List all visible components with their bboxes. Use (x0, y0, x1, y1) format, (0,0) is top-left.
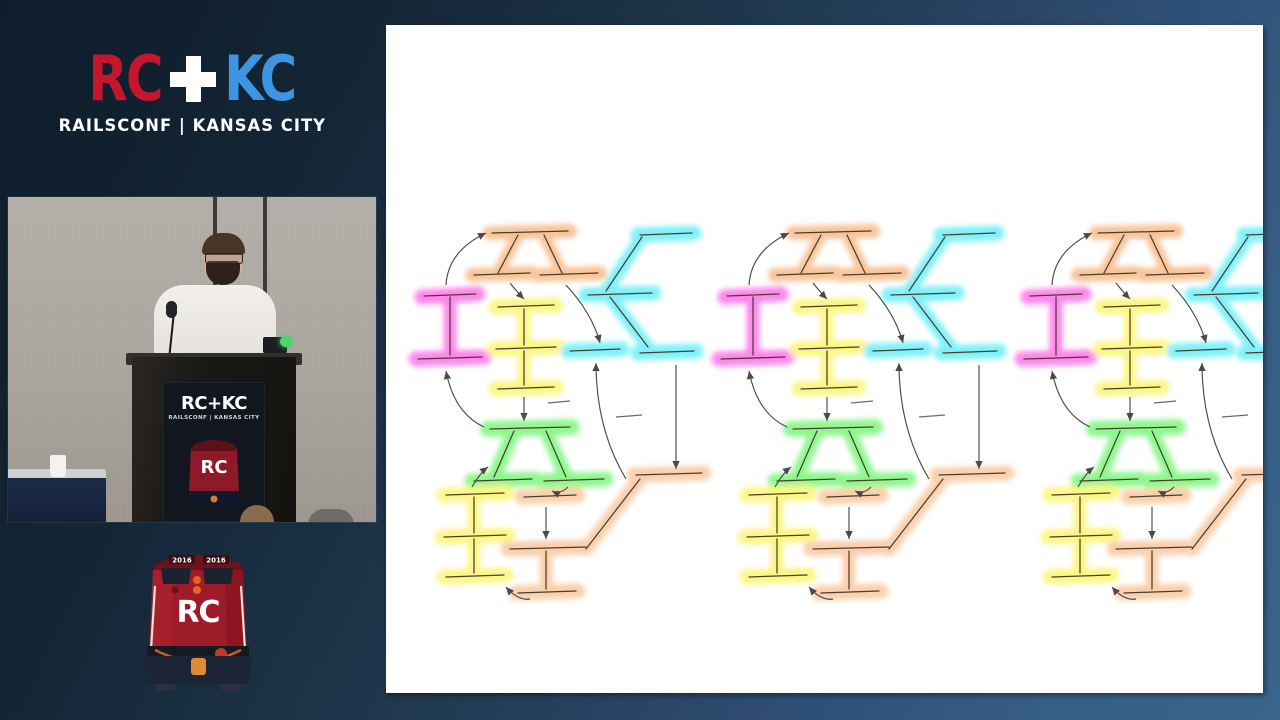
edge-green-to-magenta (1052, 371, 1090, 427)
logo-kc-text: KC (224, 54, 295, 105)
glasses-icon (205, 253, 243, 264)
stream-stage: RC KC RAILSCONF | KANSAS CITY (0, 0, 1280, 720)
logo-wordmark: RC KC (85, 54, 298, 105)
panel-2 (719, 231, 1007, 599)
microphone-icon (166, 301, 177, 318)
podium-sign-logo: RC+KC (164, 393, 264, 414)
edge-zigzag-to-cyan-bar (1202, 363, 1232, 479)
train-year-right: 2016 (206, 557, 226, 565)
locomotive-icon: RC (179, 427, 249, 513)
node-green-arch-highlight (472, 427, 606, 481)
rckc-logo: RC KC RAILSCONF | KANSAS CITY (0, 0, 384, 190)
train-year-left: 2016 (172, 557, 192, 565)
edge-tick-mark (851, 401, 873, 403)
edge-tick-marks (851, 401, 945, 417)
edge-tick-marks (548, 401, 642, 417)
node-peach-tee-highlight (811, 547, 891, 593)
edge-orange-to-yellow-a (1116, 283, 1130, 299)
podium-sign: RC+KC RAILSCONF | KANSAS CITY RC (163, 382, 265, 522)
speaker-video-panel: RC+KC RAILSCONF | KANSAS CITY RC (8, 197, 376, 522)
coffee-cup (50, 455, 66, 477)
diagram-panels (416, 231, 1263, 599)
node-orange-table-highlight (775, 231, 903, 275)
audience-member (308, 509, 354, 522)
node-orange-table-highlight (472, 231, 600, 275)
edge-tick-mark (1222, 415, 1248, 417)
locomotive-badge-icon: 2016 2016 RC (133, 538, 263, 698)
edge-orange-to-yellow-a (510, 283, 524, 299)
edge-green-to-magenta (749, 371, 787, 427)
presentation-slide (386, 25, 1263, 693)
logo-tagline: RAILSCONF | KANSAS CITY (58, 116, 325, 136)
panel-3 (1022, 231, 1263, 599)
edge-zigzag-to-cyan-bar (899, 363, 929, 479)
left-branding-column: RC KC RAILSCONF | KANSAS CITY (0, 0, 384, 720)
plus-icon (170, 56, 216, 102)
node-peach-tee-highlight (1114, 547, 1194, 593)
status-led-indicator (280, 336, 292, 347)
node-green-arch-highlight (1078, 427, 1212, 481)
logo-rc-text: RC (89, 54, 162, 105)
edge-green-to-magenta (446, 371, 484, 427)
edge-tick-mark (1154, 401, 1176, 403)
edge-orange-to-yellow-a (813, 283, 827, 299)
svg-text:RC: RC (200, 457, 227, 478)
edge-zigzag-to-cyan-bar (596, 363, 626, 479)
node-orange-table-highlight (1078, 231, 1206, 275)
node-peach-tee-highlight (508, 547, 588, 593)
train-rc-mark: RC (176, 595, 219, 630)
edge-tick-mark (919, 415, 945, 417)
podium-sign-tagline: RAILSCONF | KANSAS CITY (164, 415, 264, 421)
edge-tick-marks (1154, 401, 1248, 417)
edge-tick-mark (616, 415, 642, 417)
slide-diagram (386, 25, 1263, 693)
panel-1 (416, 231, 704, 599)
node-green-arch-highlight (775, 427, 909, 481)
edge-tick-mark (548, 401, 570, 403)
